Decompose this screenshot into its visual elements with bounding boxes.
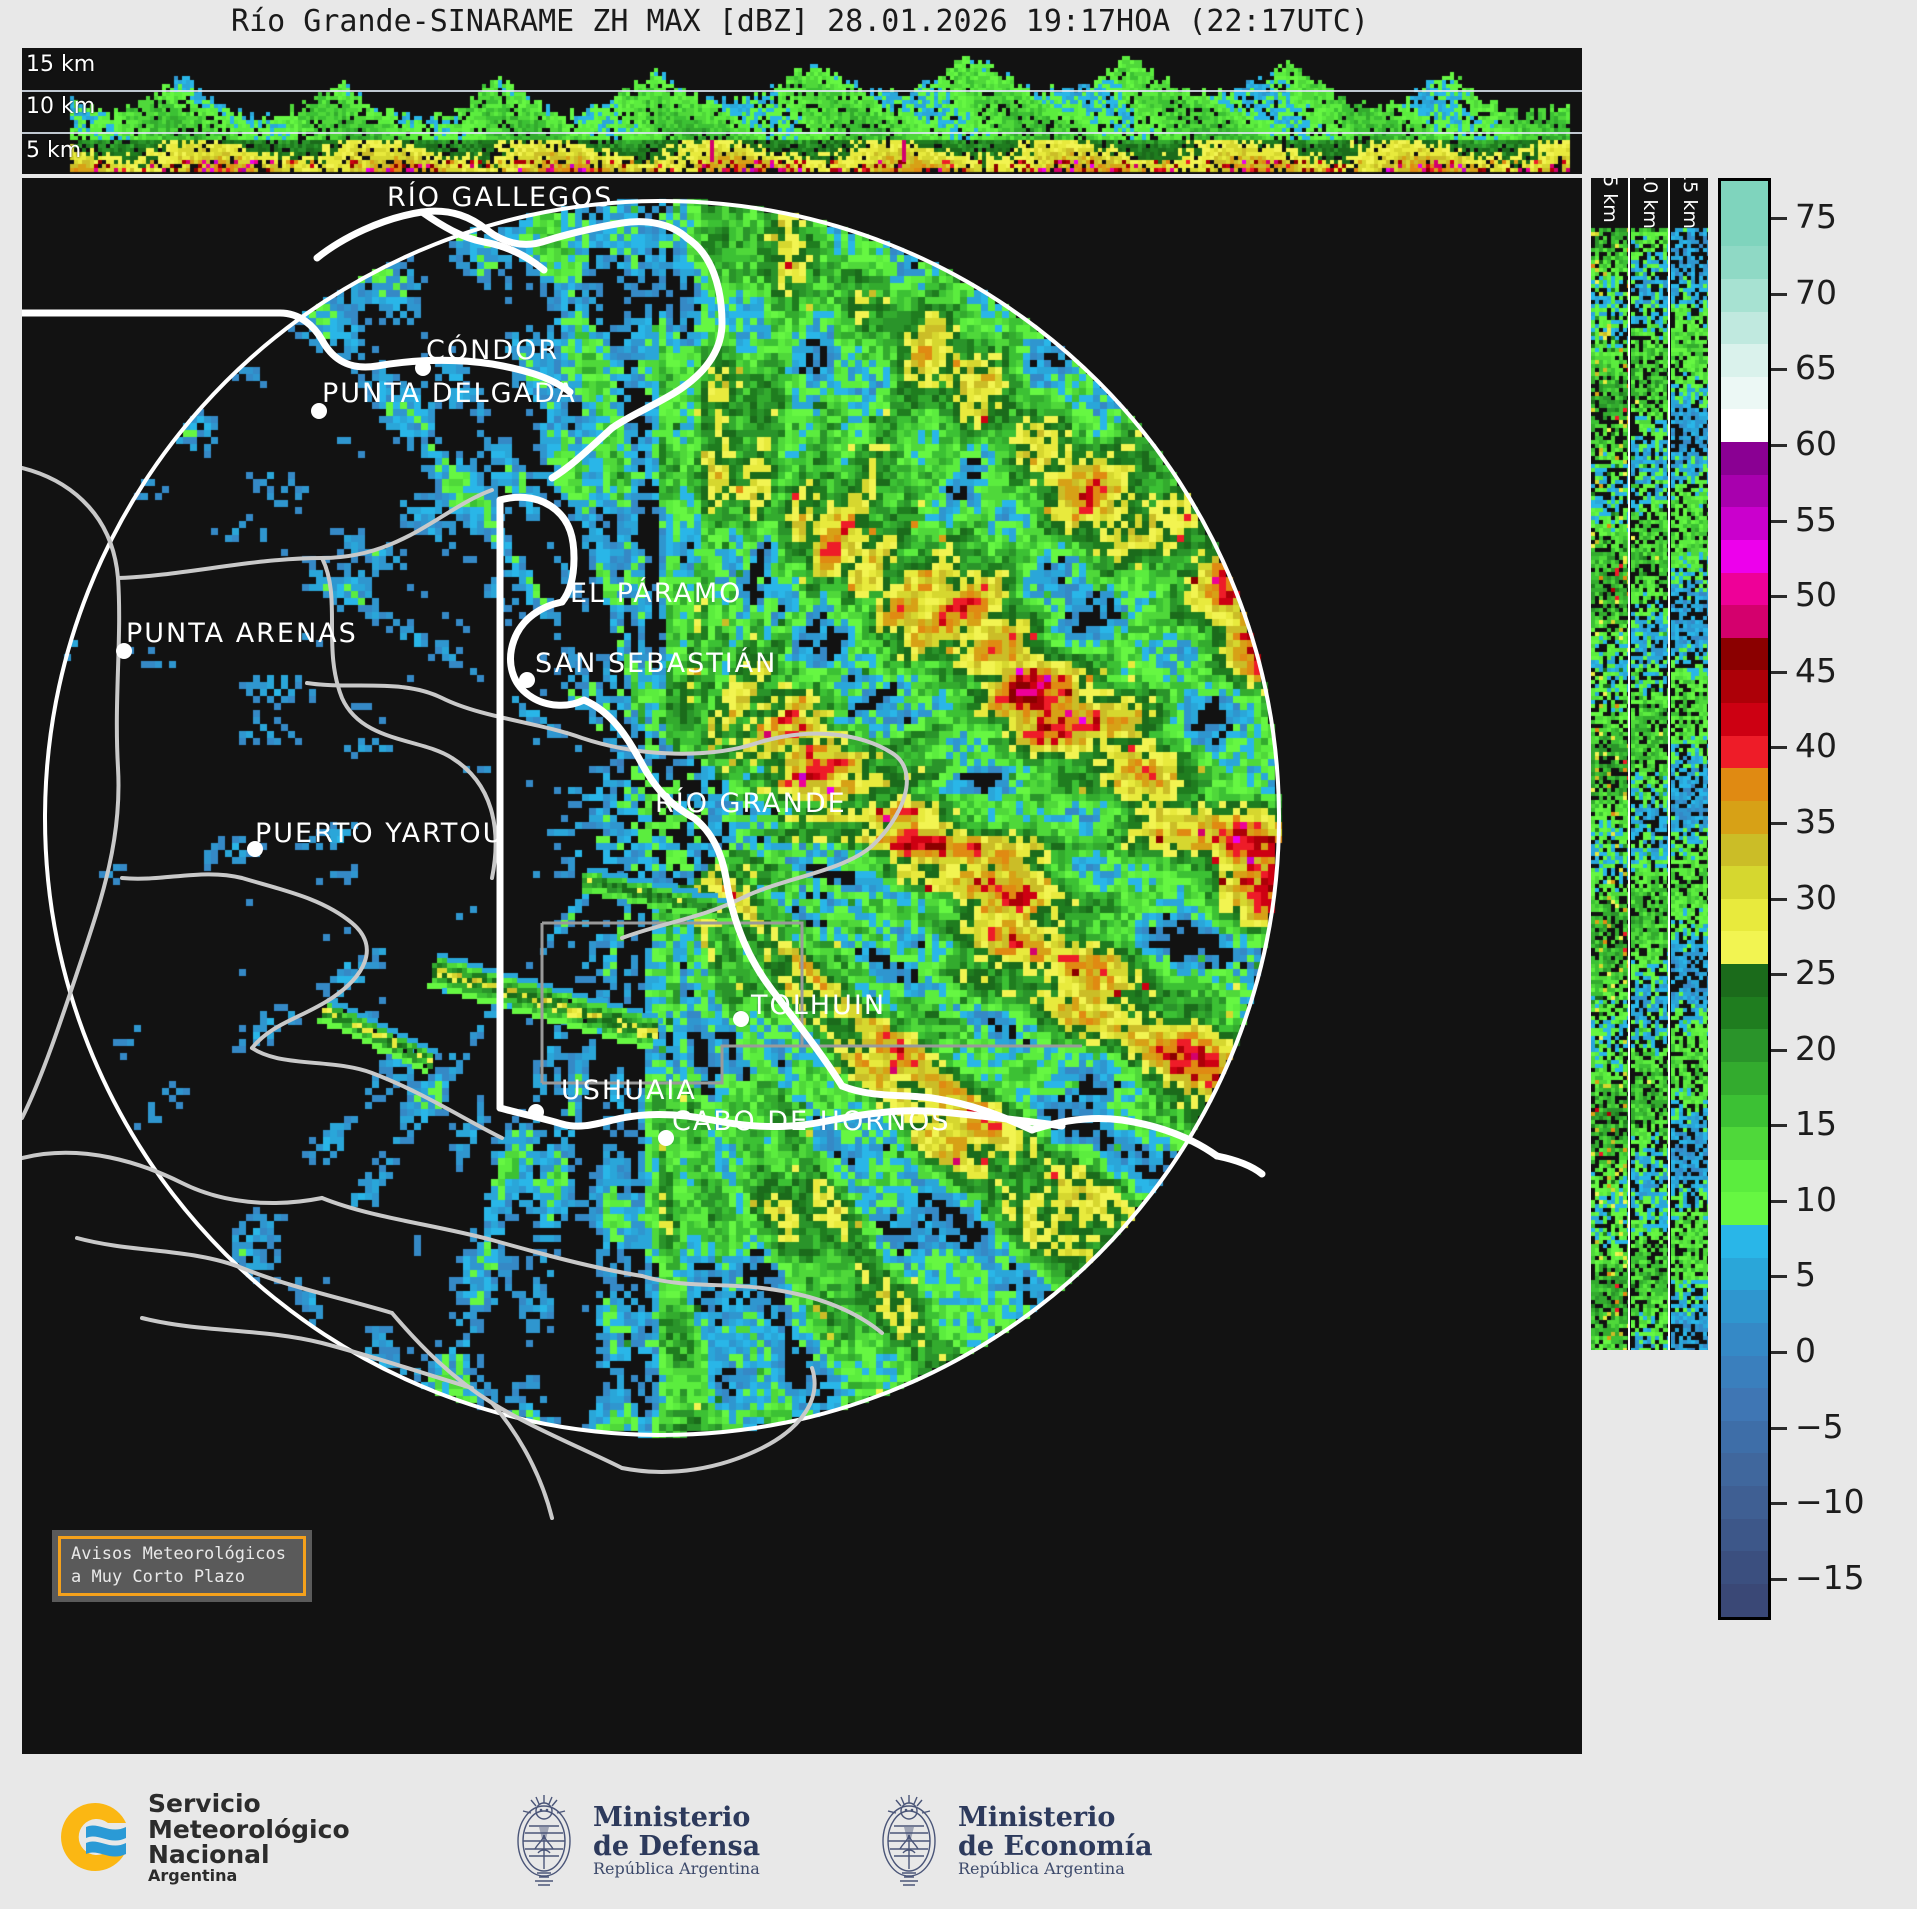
smn-logo-text: Servicio Meteorológico Nacional Argentin… <box>148 1791 350 1884</box>
colorbar-segment <box>1721 1290 1768 1323</box>
colorbar-tick-mark <box>1771 898 1787 901</box>
colorbar-tick-mark <box>1771 595 1787 598</box>
city-marker-dot <box>733 1011 749 1027</box>
colorbar-segment <box>1721 605 1768 638</box>
colorbar-segment <box>1721 312 1768 345</box>
colorbar-tick-mark <box>1771 1351 1787 1354</box>
colorbar-tick-mark <box>1771 1578 1787 1581</box>
colorbar-tick-label: 25 <box>1795 956 1837 989</box>
colorbar-segment <box>1721 1127 1768 1160</box>
warning-line-1: Avisos Meteorológicos <box>71 1543 303 1566</box>
colorbar-segment <box>1721 1551 1768 1584</box>
height-strips-panel: 5 km 10 km 15 km <box>1591 178 1708 1350</box>
colorbar-segment <box>1721 246 1768 279</box>
colorbar-segment <box>1721 1453 1768 1486</box>
economia-line-3: República Argentina <box>958 1861 1152 1878</box>
cross-section-gridline-10km <box>22 132 1582 134</box>
colorbar-segment <box>1721 442 1768 475</box>
colorbar-segment <box>1721 181 1768 214</box>
colorbar-tick-mark <box>1771 671 1787 674</box>
colorbar-segment <box>1721 377 1768 410</box>
colorbar-tick-label: 60 <box>1795 427 1837 460</box>
logo-ministerio-defensa: Ministerio de Defensa República Argentin… <box>505 1789 760 1893</box>
smn-line-3: Nacional <box>148 1842 350 1868</box>
colorbar-tick-label: 5 <box>1795 1258 1816 1291</box>
colorbar-tick-label: 20 <box>1795 1032 1837 1065</box>
colorbar-tick-mark <box>1771 293 1787 296</box>
colorbar-segment <box>1721 1062 1768 1095</box>
defensa-line-2: de Defensa <box>593 1833 760 1861</box>
colorbar-tick-label: −15 <box>1795 1561 1865 1594</box>
argentina-coat-of-arms-icon <box>870 1789 948 1893</box>
warning-box-inner: Avisos Meteorológicos a Muy Corto Plazo <box>58 1536 306 1596</box>
colorbar-segment <box>1721 507 1768 540</box>
colorbar-segment <box>1721 638 1768 671</box>
colorbar-segment <box>1721 899 1768 932</box>
colorbar-tick-mark <box>1771 1200 1787 1203</box>
defensa-line-3: República Argentina <box>593 1861 760 1878</box>
colorbar-segment <box>1721 1486 1768 1519</box>
height-strip-10km: 10 km <box>1631 178 1668 1350</box>
colorbar-ticks: 757065605550454035302520151050−5−10−15 <box>1771 178 1891 1620</box>
height-strip-15km-canvas <box>1671 178 1708 1350</box>
height-strip-5km-canvas <box>1591 178 1628 1350</box>
cross-section-label-5km: 5 km <box>26 138 81 163</box>
colorbar-segment <box>1721 768 1768 801</box>
colorbar-segment <box>1721 1584 1768 1617</box>
colorbar-tick-mark <box>1771 217 1787 220</box>
colorbar-tick-mark <box>1771 1427 1787 1430</box>
radar-map-panel[interactable]: RÍO GALLEGOSCÓNDORPUNTA DELGADAEL PÁRAMO… <box>22 178 1582 1754</box>
city-marker-dot <box>247 841 263 857</box>
colorbar-tick-mark <box>1771 746 1787 749</box>
cross-section-label-15km: 15 km <box>26 52 95 77</box>
economia-logo-text: Ministerio de Economía República Argenti… <box>958 1804 1152 1877</box>
height-strip-separator-2 <box>1668 178 1670 1350</box>
map-overlay <box>22 178 1582 1754</box>
defensa-logo-text: Ministerio de Defensa República Argentin… <box>593 1804 760 1877</box>
colorbar-segment <box>1721 573 1768 606</box>
colorbar-tick-label: 50 <box>1795 578 1837 611</box>
economia-line-1: Ministerio <box>958 1804 1152 1832</box>
colorbar-segment <box>1721 1421 1768 1454</box>
colorbar-segment <box>1721 214 1768 247</box>
smn-line-4: Argentina <box>148 1868 350 1884</box>
colorbar-tick-label: −10 <box>1795 1485 1865 1518</box>
colorbar-segment <box>1721 736 1768 769</box>
colorbar-segment <box>1721 475 1768 508</box>
smn-line-1: Servicio <box>148 1791 350 1817</box>
colorbar-tick-mark <box>1771 822 1787 825</box>
colorbar-tick-label: 40 <box>1795 729 1837 762</box>
colorbar-tick-mark <box>1771 1502 1787 1505</box>
cross-section-echo-canvas <box>22 48 1582 174</box>
height-strip-10km-canvas <box>1631 178 1668 1350</box>
colorbar-segment <box>1721 409 1768 442</box>
colorbar-tick-mark <box>1771 1049 1787 1052</box>
colorbar-segment <box>1721 1225 1768 1258</box>
colorbar-segment <box>1721 703 1768 736</box>
colorbar-segment <box>1721 866 1768 899</box>
colorbar-tick-label: 70 <box>1795 276 1837 309</box>
colorbar <box>1718 178 1771 1620</box>
colorbar-tick-mark <box>1771 1124 1787 1127</box>
colorbar-tick-label: 35 <box>1795 805 1837 838</box>
height-strip-5km: 5 km <box>1591 178 1628 1350</box>
colorbar-segment <box>1721 344 1768 377</box>
page-title: Río Grande-SINARAME ZH MAX [dBZ] 28.01.2… <box>0 4 1600 39</box>
height-strip-15km: 15 km <box>1671 178 1708 1350</box>
smn-line-2: Meteorológico <box>148 1817 350 1843</box>
colorbar-segment <box>1721 931 1768 964</box>
colorbar-segment <box>1721 1323 1768 1356</box>
colorbar-segment <box>1721 834 1768 867</box>
smn-logo-mark <box>52 1795 136 1879</box>
colorbar-tick-label: 10 <box>1795 1183 1837 1216</box>
warning-line-2: a Muy Corto Plazo <box>71 1566 303 1589</box>
colorbar-tick-mark <box>1771 368 1787 371</box>
argentina-coat-of-arms-icon <box>505 1789 583 1893</box>
colorbar-tick-mark <box>1771 1275 1787 1278</box>
economia-line-2: de Economía <box>958 1833 1152 1861</box>
colorbar-tick-mark <box>1771 444 1787 447</box>
colorbar-segment <box>1721 1258 1768 1291</box>
colorbar-tick-label: 45 <box>1795 654 1837 687</box>
colorbar-tick-label: 55 <box>1795 503 1837 536</box>
city-marker-dot <box>415 360 431 376</box>
city-marker-dot <box>519 672 535 688</box>
colorbar-segment <box>1721 670 1768 703</box>
colorbar-tick-label: 65 <box>1795 351 1837 384</box>
colorbar-tick-label: 30 <box>1795 881 1837 914</box>
colorbar-segment <box>1721 279 1768 312</box>
footer-logos: Servicio Meteorológico Nacional Argentin… <box>0 1775 1917 1909</box>
colorbar-segment <box>1721 1356 1768 1389</box>
city-marker-dot <box>658 1130 674 1146</box>
colorbar-segment <box>1721 964 1768 997</box>
admin-boundaries <box>542 923 1082 1083</box>
warning-box[interactable]: Avisos Meteorológicos a Muy Corto Plazo <box>52 1530 312 1602</box>
colorbar-segment <box>1721 1388 1768 1421</box>
city-marker-dot <box>528 1104 544 1120</box>
colorbar-tick-label: 0 <box>1795 1334 1816 1367</box>
logo-ministerio-economia: Ministerio de Economía República Argenti… <box>870 1789 1152 1893</box>
coastline-white <box>22 211 1262 1174</box>
colorbar-tick-label: 75 <box>1795 200 1837 233</box>
colorbar-segment <box>1721 997 1768 1030</box>
city-marker-dot <box>311 403 327 419</box>
cross-section-panel: 15 km 10 km 5 km <box>22 48 1582 174</box>
colorbar-segment <box>1721 540 1768 573</box>
colorbar-segment <box>1721 1192 1768 1225</box>
colorbar-tick-label: −5 <box>1795 1410 1844 1443</box>
colorbar-tick-mark <box>1771 520 1787 523</box>
cross-section-label-10km: 10 km <box>26 94 95 119</box>
colorbar-segment <box>1721 1160 1768 1193</box>
colorbar-segment <box>1721 1519 1768 1552</box>
colorbar-tick-label: 15 <box>1795 1107 1837 1140</box>
city-marker-dot <box>116 643 132 659</box>
height-strip-label-5km: 5 km <box>1599 178 1621 223</box>
height-strip-separator-1 <box>1628 178 1630 1350</box>
height-strip-label-10km: 10 km <box>1639 178 1661 229</box>
logo-smn: Servicio Meteorológico Nacional Argentin… <box>52 1791 350 1884</box>
cross-section-gridline-15km <box>22 90 1582 92</box>
defensa-line-1: Ministerio <box>593 1804 760 1832</box>
radar-range-ring <box>45 201 1279 1435</box>
colorbar-tick-mark <box>1771 973 1787 976</box>
colorbar-segment <box>1721 801 1768 834</box>
colorbar-segment <box>1721 1095 1768 1128</box>
height-strip-label-15km: 15 km <box>1679 178 1701 229</box>
colorbar-segment <box>1721 1029 1768 1062</box>
